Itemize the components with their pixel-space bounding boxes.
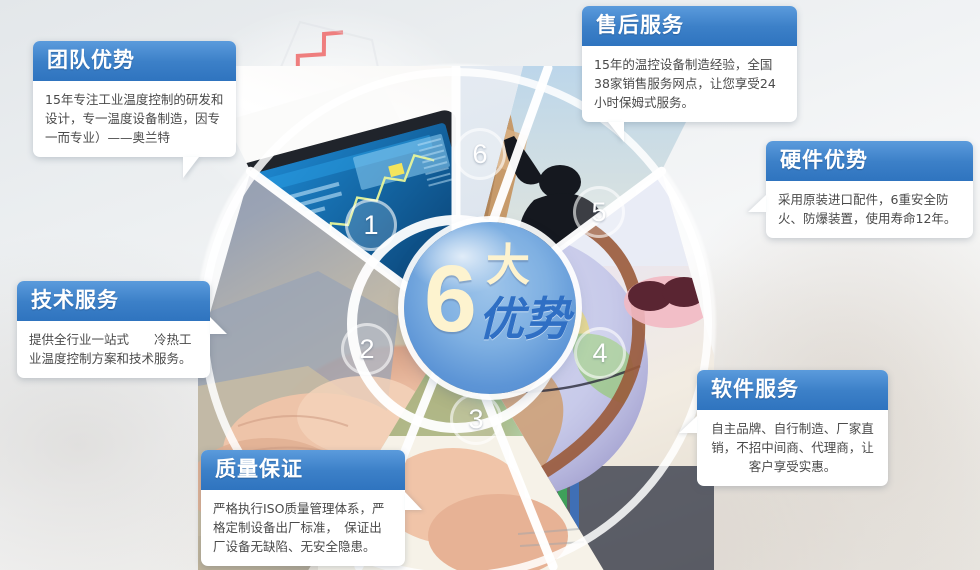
- callout-quality-tail: [405, 492, 422, 510]
- callout-software-body: 自主品牌、自行制造、厂家直销，不招中间商、代理商，让客户享受实惠。: [697, 410, 888, 486]
- callout-after-sales-body: 15年的温控设备制造经验，全国38家销售服务网点，让您享受24小时保姆式服务。: [582, 46, 797, 122]
- callout-tech-service-tail: [210, 317, 227, 334]
- segment-number-1[interactable]: 1: [345, 199, 397, 251]
- segment-number-2[interactable]: 2: [341, 323, 393, 375]
- callout-tech-service-body: 提供全行业一站式 冷热工业温度控制方案和技术服务。: [17, 321, 210, 378]
- callout-after-sales-title: 售后服务: [582, 6, 797, 46]
- callout-tech-service[interactable]: 技术服务 提供全行业一站式 冷热工业温度控制方案和技术服务。: [17, 281, 210, 378]
- callout-team-tail: [183, 157, 199, 178]
- callout-hardware-title: 硬件优势: [766, 141, 973, 181]
- callout-hardware-tail: [748, 195, 766, 212]
- callout-software-tail: [679, 416, 697, 433]
- callout-team-body: 15年专注工业温度控制的研发和设计，专一温度设备制造，因专一而专业）——奥兰特: [33, 81, 236, 157]
- callout-software-title: 软件服务: [697, 370, 888, 410]
- callout-quality-body: 严格执行ISO质量管理体系，严格定制设备出厂标准， 保证出厂设备无缺陷、无安全隐…: [201, 490, 405, 566]
- center-badge-number: 6: [424, 252, 477, 347]
- callout-tech-service-title: 技术服务: [17, 281, 210, 321]
- segment-number-5[interactable]: 5: [573, 186, 625, 238]
- center-badge-unit: 大: [486, 244, 530, 288]
- callout-team-title: 团队优势: [33, 41, 236, 81]
- segment-number-6[interactable]: 6: [454, 128, 506, 180]
- segment-number-3[interactable]: 3: [450, 393, 502, 445]
- callout-software[interactable]: 软件服务 自主品牌、自行制造、厂家直销，不招中间商、代理商，让客户享受实惠。: [697, 370, 888, 486]
- segment-number-4[interactable]: 4: [574, 327, 626, 379]
- center-badge: 6 大 优势: [404, 222, 576, 394]
- callout-quality[interactable]: 质量保证 严格执行ISO质量管理体系，严格定制设备出厂标准， 保证出厂设备无缺陷…: [201, 450, 405, 566]
- callout-hardware[interactable]: 硬件优势 采用原装进口配件，6重安全防火、防爆装置，使用寿命12年。: [766, 141, 973, 238]
- center-badge-word: 优势: [478, 296, 570, 342]
- callout-quality-title: 质量保证: [201, 450, 405, 490]
- callout-after-sales[interactable]: 售后服务 15年的温控设备制造经验，全国38家销售服务网点，让您享受24小时保姆…: [582, 6, 797, 122]
- callout-hardware-body: 采用原装进口配件，6重安全防火、防爆装置，使用寿命12年。: [766, 181, 973, 238]
- callout-after-sales-tail: [608, 122, 624, 142]
- callout-team-advantage[interactable]: 团队优势 15年专注工业温度控制的研发和设计，专一温度设备制造，因专一而专业）—…: [33, 41, 236, 157]
- infographic-poster: 1 2 3 4 5 6 6 大 优势 团队优势 15年专注工业温度控制的研发和设…: [0, 0, 980, 570]
